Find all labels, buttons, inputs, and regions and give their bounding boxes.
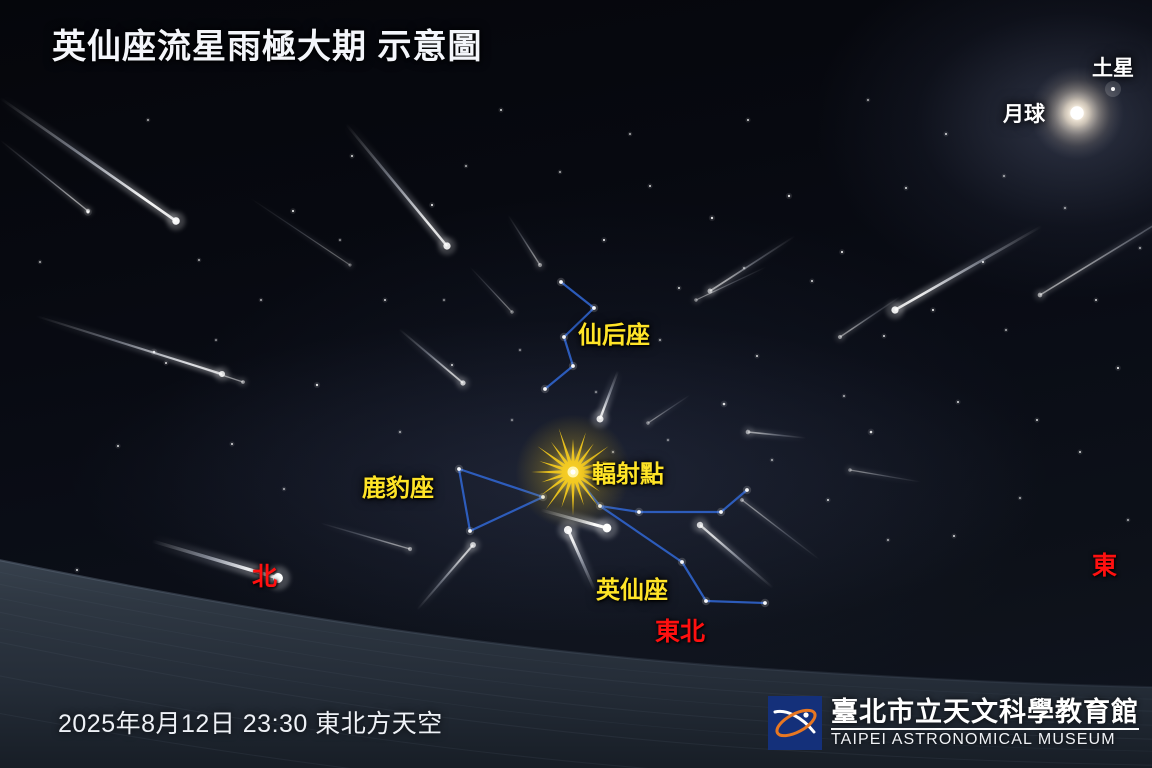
constellation-label-camelopardalis: 鹿豹座 <box>362 477 434 501</box>
sky-chart-canvas: 英仙座流星雨極大期 示意圖 月球土星 仙后座鹿豹座英仙座 輻射點 北東北東 20… <box>0 0 1152 768</box>
museum-name-en: TAIPEI ASTRONOMICAL MUSEUM <box>831 731 1139 749</box>
museum-logo-text: 臺北市立天文科學教育館 TAIPEI ASTRONOMICAL MUSEUM <box>831 698 1139 749</box>
datetime-caption: 2025年8月12日 23:30 東北方天空 <box>58 712 443 737</box>
museum-logo: 臺北市立天文科學教育館 TAIPEI ASTRONOMICAL MUSEUM <box>768 696 1139 750</box>
radiant-point-label: 輻射點 <box>592 463 664 487</box>
direction-label-north: 北 <box>252 565 277 590</box>
moon-label: 月球 <box>1003 104 1045 125</box>
saturn-label: 土星 <box>1092 58 1134 79</box>
page-title: 英仙座流星雨極大期 示意圖 <box>52 30 482 64</box>
direction-label-northeast: 東北 <box>655 620 705 645</box>
solar-objects-layer <box>0 0 1152 768</box>
museum-name-cn: 臺北市立天文科學教育館 <box>831 698 1139 730</box>
constellation-label-cassiopeia: 仙后座 <box>578 324 650 348</box>
direction-label-east: 東 <box>1092 554 1117 579</box>
saturn-glyph <box>1105 81 1121 97</box>
museum-logo-mark <box>768 696 822 750</box>
constellation-label-perseus: 英仙座 <box>596 579 668 603</box>
